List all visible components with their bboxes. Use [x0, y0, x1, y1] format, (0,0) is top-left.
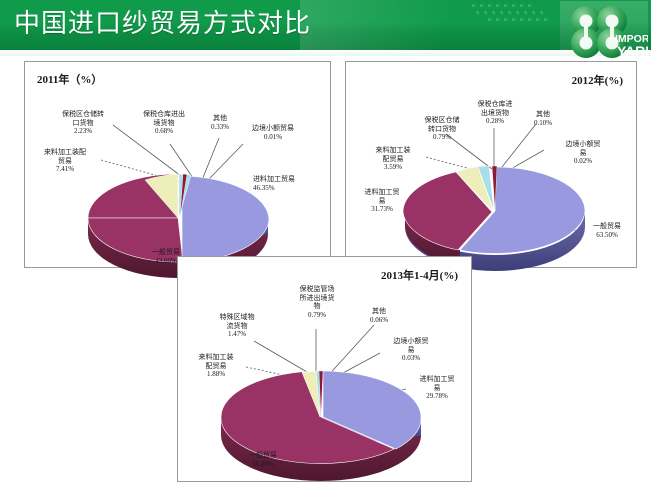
label-border-trade-2012: 边境小额贸 易 0.02%	[554, 140, 612, 166]
label-other-2011: 其他 0.33%	[201, 114, 239, 131]
label-other-2013: 其他 0.06%	[360, 307, 398, 324]
imported-yarn-logo: IMPORTED YARN	[560, 1, 648, 63]
label-imported-materials-2012: 进料加工贸 易 31.73%	[352, 188, 412, 214]
header-dot-pattern	[470, 2, 560, 36]
page-title: 中国进口纱贸易方式对比	[14, 7, 311, 41]
label-special-zone-2013: 特殊区域物 流货物 1.47%	[208, 313, 266, 339]
label-bonded-supervision-2013: 保税监管场 所进出境货 物 0.79%	[288, 285, 346, 319]
chart-card-2013: 2013年1-4月(%)	[177, 256, 472, 482]
label-supplied-materials-2012: 来料加工装 配贸易 3.59%	[362, 146, 424, 172]
header-underline	[0, 50, 651, 56]
label-general-trade-2012: 一般贸易 63.50%	[580, 222, 634, 239]
chart-card-2011: 2011年（%）	[24, 61, 331, 268]
slide-header: 中国进口纱贸易方式对比	[0, 0, 651, 56]
label-supplied-materials-2013: 来料加工装 配贸易 1.88%	[186, 353, 246, 379]
label-border-trade-2011: 边境小额贸易 0.01%	[237, 124, 309, 141]
chart-card-2012: 2012年(%)	[345, 61, 637, 268]
label-bonded-zone-2011: 保税区仓储转 口货物 2.23%	[52, 110, 114, 136]
logo-line2: YARN	[617, 43, 648, 59]
label-bonded-warehouse-2011: 保税仓库进出 境货物 0.68%	[133, 110, 195, 136]
label-border-trade-2013: 边境小额贸 易 0.03%	[382, 337, 440, 363]
slide-canvas: 中国进口纱贸易方式对比	[0, 0, 651, 487]
label-bonded-warehouse-2012: 保税仓库进 出境货物 0.28%	[466, 100, 524, 126]
label-imported-materials-2013: 进料加工贸 易 29.78%	[408, 375, 466, 401]
label-supplied-materials-2011: 来料加工装配 贸易 7.41%	[33, 148, 97, 174]
label-other-2012: 其他 0.10%	[524, 110, 562, 127]
label-bonded-zone-2012: 保税区仓储 转口货物 0.79%	[412, 116, 472, 142]
label-general-trade-2013: 一般贸易 66.00%	[232, 451, 294, 468]
label-imported-materials-2011: 进料加工贸易 46.35%	[253, 175, 323, 192]
pie-2012	[400, 165, 590, 260]
